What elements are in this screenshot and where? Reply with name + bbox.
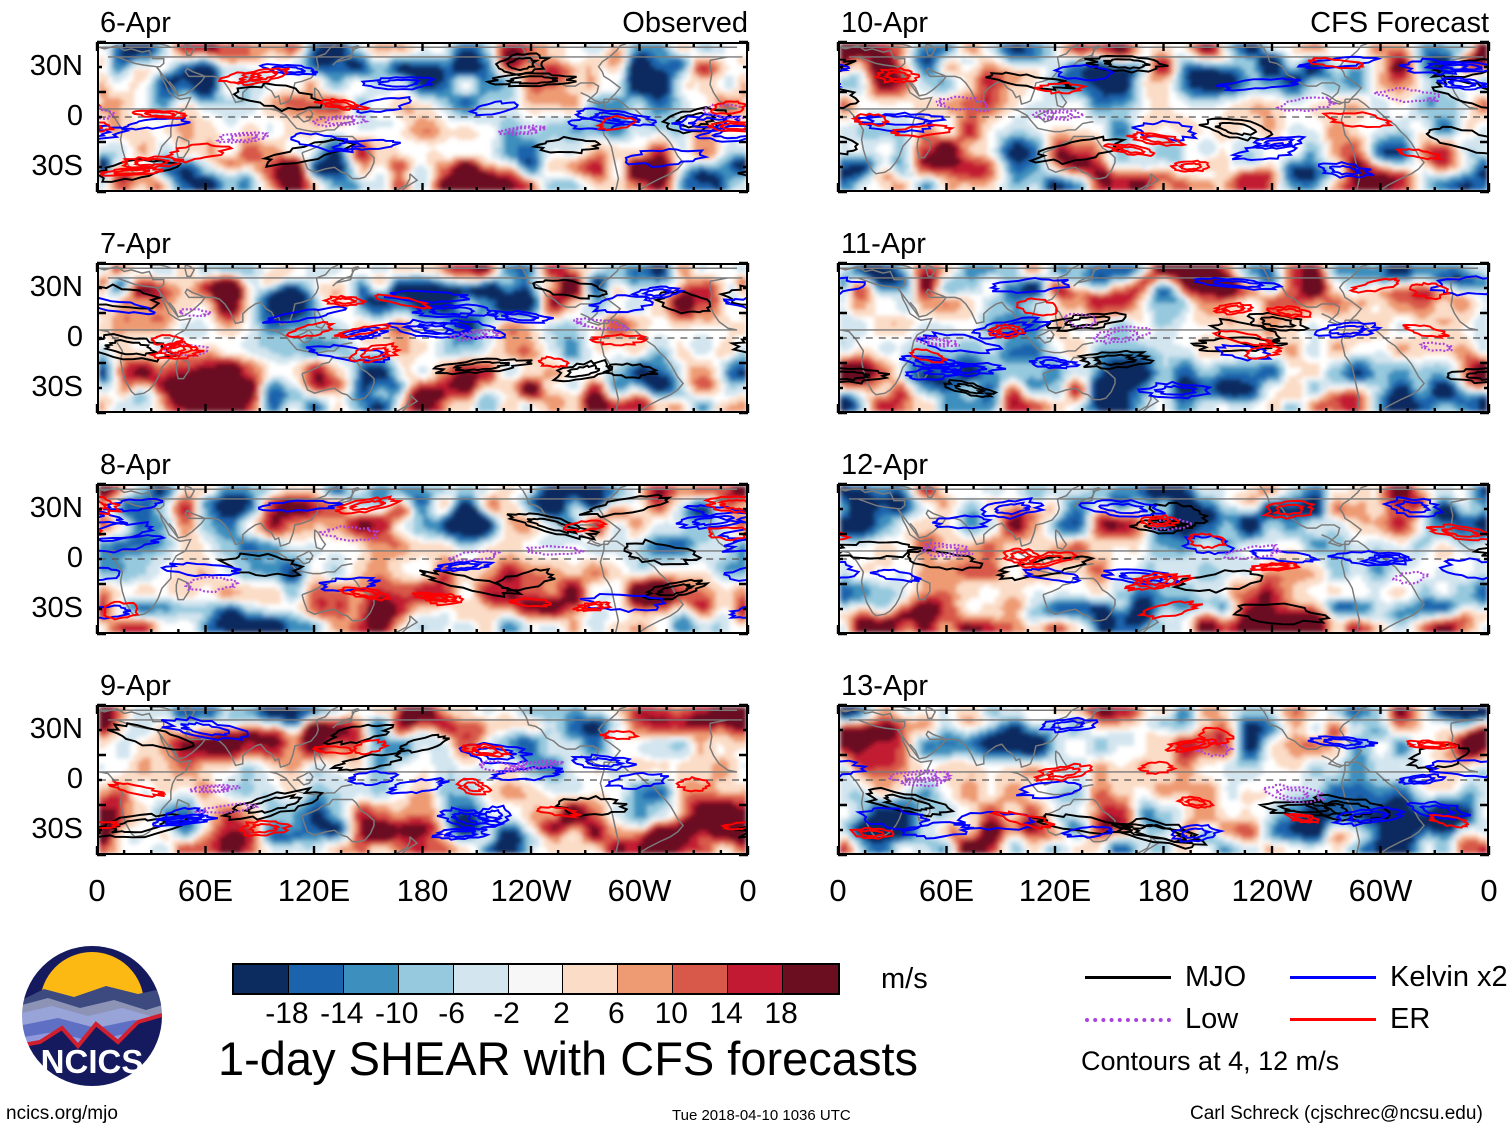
panel-ticks [87, 253, 758, 423]
y-axis-tick-0: 0 [0, 765, 83, 794]
legend-label: Kelvin x2 [1390, 963, 1508, 992]
contour-note: Contours at 4, 12 m/s [1081, 1048, 1339, 1075]
colorbar-swatch-5 [509, 965, 564, 993]
y-axis-tick-30N: 30N [0, 715, 83, 744]
legend-line-swatch [1085, 1018, 1171, 1022]
y-axis-tick-30S: 30S [0, 373, 83, 402]
y-axis-tick-0: 0 [0, 544, 83, 573]
x-tick-0: 0 [88, 875, 105, 906]
ncics-logo: NCICS [18, 942, 166, 1095]
y-axis-tick-0: 0 [0, 102, 83, 131]
colorbar-swatch-1 [289, 965, 344, 993]
colorbar-swatch-3 [399, 965, 454, 993]
y-axis-tick-30N: 30N [0, 494, 83, 523]
colorbar-tick-6: 6 [608, 999, 625, 1029]
colorbar-tick-2: 2 [553, 999, 570, 1029]
panel-ticks [87, 695, 758, 865]
colorbar-swatch-4 [454, 965, 509, 993]
y-axis-tick-30S: 30S [0, 815, 83, 844]
legend-label: MJO [1185, 963, 1246, 992]
x-tick-180: 180 [1138, 875, 1190, 906]
footer-url[interactable]: ncics.org/mjo [6, 1104, 118, 1123]
legend-entry-low: Low [1085, 1005, 1238, 1034]
x-tick-0: 0 [1480, 875, 1497, 906]
colorbar-tick-10: 10 [655, 999, 688, 1029]
x-tick-60E: 60E [178, 875, 233, 906]
colorbar-tick--2: -2 [493, 999, 520, 1029]
y-axis-tick-0: 0 [0, 323, 83, 352]
x-tick-120W: 120W [1232, 875, 1313, 906]
legend-entry-kelvin-x2: Kelvin x2 [1290, 963, 1508, 992]
y-axis-tick-30N: 30N [0, 52, 83, 81]
x-tick-60W: 60W [1349, 875, 1413, 906]
legend-line-swatch [1290, 976, 1376, 979]
legend-entry-mjo: MJO [1085, 963, 1246, 992]
footer-author: Carl Schreck (cjschrec@ncsu.edu) [1190, 1104, 1483, 1123]
panel-ticks [828, 474, 1499, 644]
y-axis-tick-30N: 30N [0, 273, 83, 302]
colorbar-tick-18: 18 [764, 999, 797, 1029]
panel-ticks [828, 32, 1499, 202]
panel-ticks [828, 253, 1499, 423]
legend-entry-er: ER [1290, 1005, 1430, 1034]
legend-line-swatch [1085, 976, 1171, 979]
x-tick-120E: 120E [1019, 875, 1091, 906]
y-axis-tick-30S: 30S [0, 594, 83, 623]
colorbar-swatch-2 [344, 965, 399, 993]
colorbar-swatch-7 [618, 965, 673, 993]
x-tick-0: 0 [739, 875, 756, 906]
panel-ticks [87, 474, 758, 644]
legend-label: ER [1390, 1005, 1430, 1034]
colorbar-unit-label: m/s [881, 965, 928, 994]
colorbar-tick--6: -6 [438, 999, 465, 1029]
x-axis-labels-observed: 060E120E180120W60W0 [97, 875, 748, 915]
legend-label: Low [1185, 1005, 1238, 1034]
x-axis-labels-forecast: 060E120E180120W60W0 [838, 875, 1489, 915]
colorbar-tick--14: -14 [320, 999, 363, 1029]
colorbar-tick--10: -10 [375, 999, 418, 1029]
x-tick-120E: 120E [278, 875, 350, 906]
logo-text: NCICS [41, 1043, 144, 1080]
colorbar-swatch-8 [673, 965, 728, 993]
page-title: 1-day SHEAR with CFS forecasts [218, 1035, 918, 1082]
panel-ticks [87, 32, 758, 202]
x-tick-180: 180 [397, 875, 449, 906]
x-tick-0: 0 [829, 875, 846, 906]
y-axis-tick-30S: 30S [0, 152, 83, 181]
colorbar-swatch-6 [563, 965, 618, 993]
colorbar-swatch-0 [234, 965, 289, 993]
footer-timestamp: Tue 2018-04-10 1036 UTC [672, 1108, 851, 1123]
x-tick-120W: 120W [491, 875, 572, 906]
panel-ticks [828, 695, 1499, 865]
colorbar-swatch-10 [783, 965, 838, 993]
x-tick-60W: 60W [608, 875, 672, 906]
colorbar-tick-14: 14 [709, 999, 742, 1029]
x-tick-60E: 60E [919, 875, 974, 906]
colorbar-swatch-9 [728, 965, 783, 993]
colorbar-tick--18: -18 [265, 999, 308, 1029]
legend-line-swatch [1290, 1018, 1376, 1021]
colorbar [232, 963, 840, 995]
